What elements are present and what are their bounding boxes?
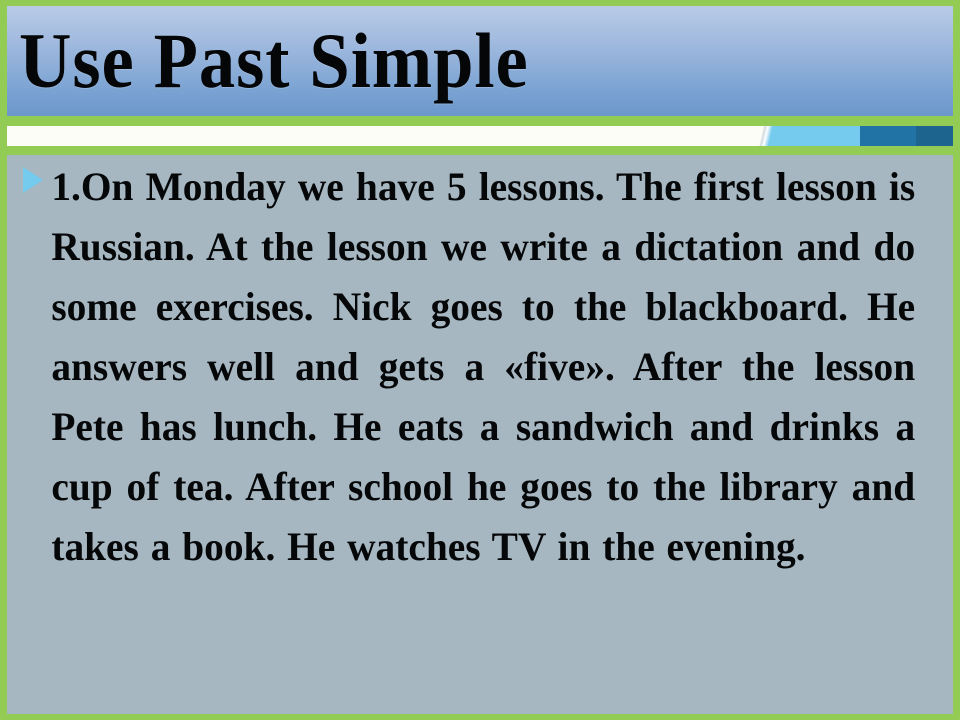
slide-frame-right [953,0,960,720]
decorative-strip-band [0,126,960,146]
slide-title-band: Use Past Simple [7,6,953,116]
slide-body: 1.On Monday we have 5 lessons. The first… [7,155,953,714]
decorative-segment-cyan [767,126,860,146]
decorative-segment-slash [752,126,778,146]
slide-frame-bottom [0,714,960,720]
decorative-strip-green-bottom [0,146,960,155]
presentation-slide: Use Past Simple 1.On Monday we have 5 le… [0,0,960,720]
slide-title: Use Past Simple [19,22,529,100]
slide-frame-left [0,0,7,720]
decorative-strip-green-top [0,116,960,126]
body-paragraph: 1.On Monday we have 5 lessons. The first… [7,155,939,577]
bullet-list-item: 1.On Monday we have 5 lessons. The first… [7,155,953,577]
slide-frame-top [0,0,960,6]
